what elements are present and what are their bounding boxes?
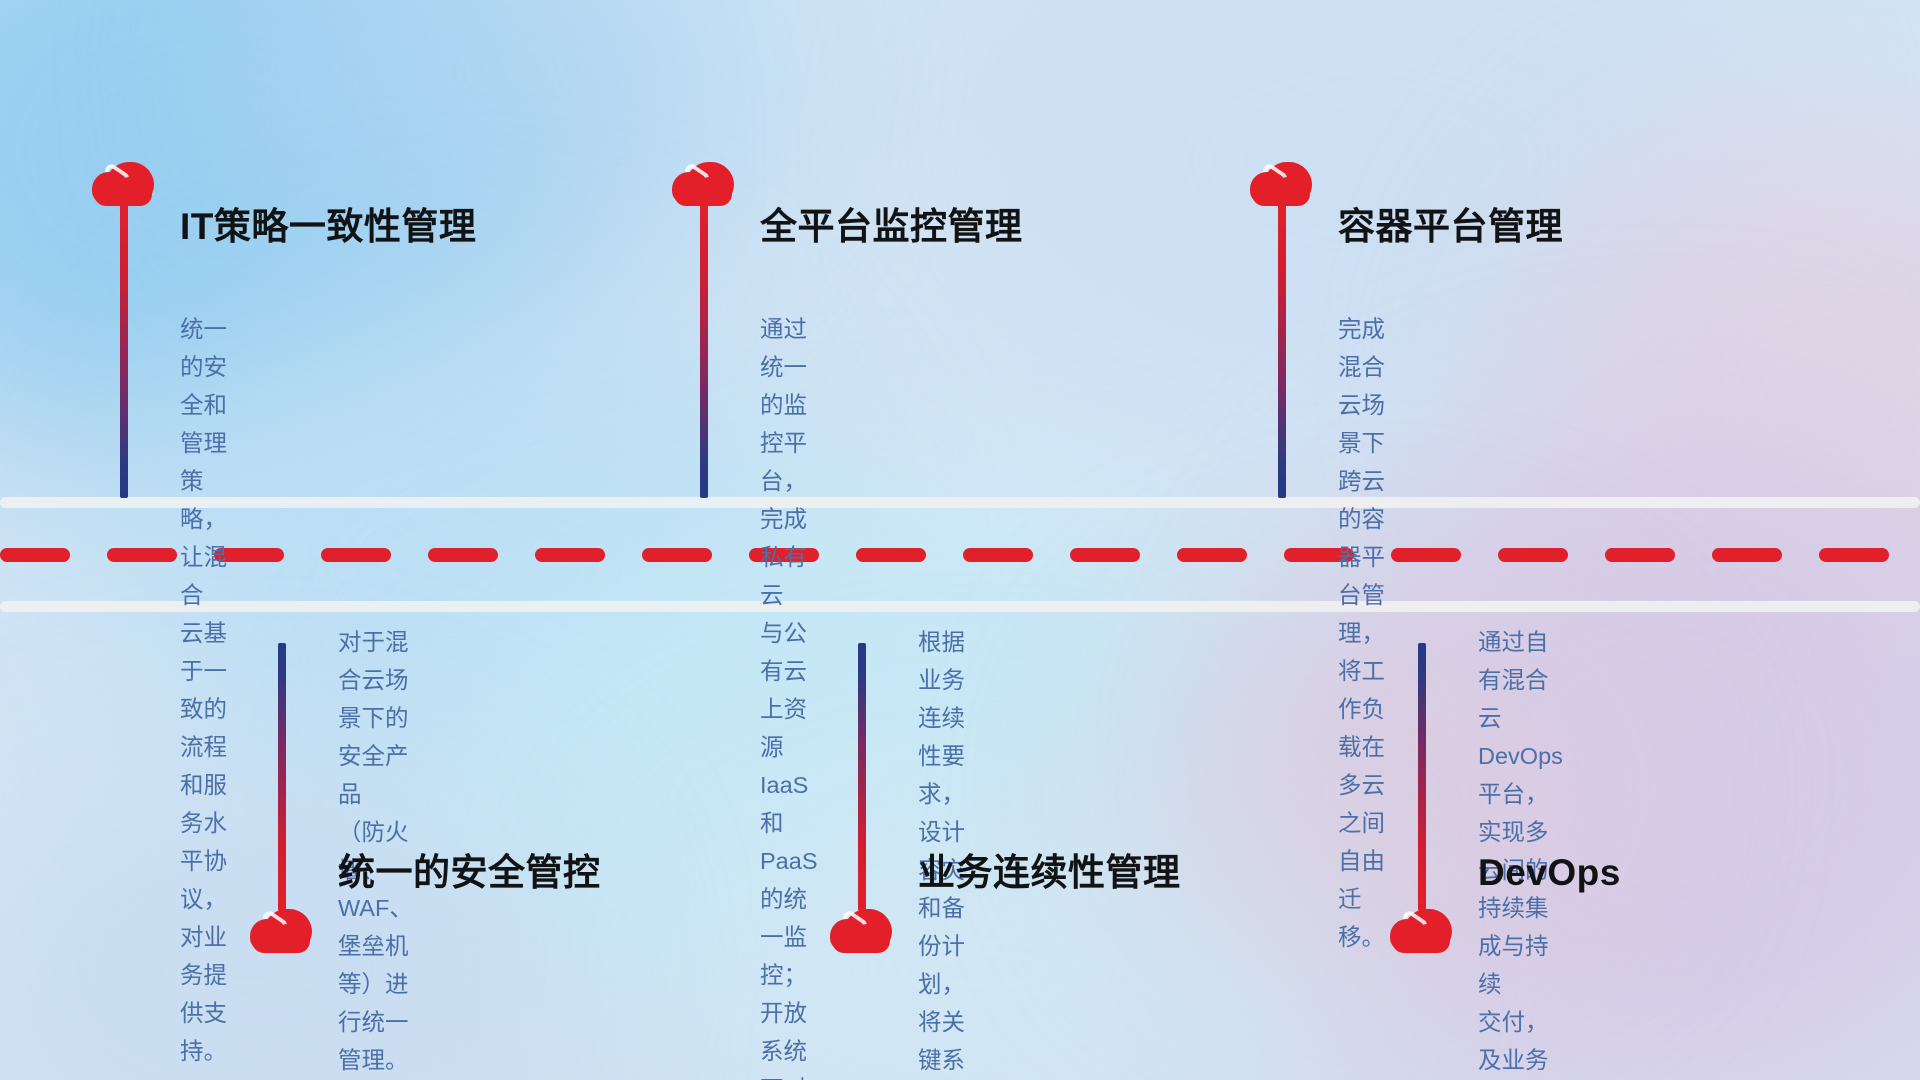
card-title: DevOps [1478,854,1621,891]
road-dash-segment [1605,548,1675,562]
road-dash-segment [1498,548,1568,562]
card-title: 统一的安全管控 [338,854,601,891]
road-dash-segment [535,548,605,562]
card-body-text: 统一的安全和管理策略，让混合 云基于一致的流程和服务水平协 议，对业务提供支持。 [180,310,227,1070]
road-dash-segment [1070,548,1140,562]
infographic-canvas: IT策略一致性管理 统一的安全和管理策略，让混合 云基于一致的流程和服务水平协 … [0,0,1920,1080]
connector-stem [858,643,866,911]
road-dash-segment [107,548,177,562]
connector-stem [278,643,286,911]
road-dash-segment [321,548,391,562]
road-dash-segment [1391,548,1461,562]
card-title: IT策略一致性管理 [180,208,476,245]
card-title: 容器平台管理 [1338,208,1563,245]
cloud-icon [1250,160,1314,206]
road-dash-segment [1177,548,1247,562]
cloud-icon [250,907,314,953]
connector-stem [1418,643,1426,911]
road-center-dashed-line [0,548,1920,562]
road-dash-segment [0,548,70,562]
connector-stem [120,202,128,498]
cloud-icon [92,160,156,206]
road-dash-segment [1712,548,1782,562]
card-body-text: 对于混合云场景下的安全产品 （防火墙、WAF、堡垒机等）进 行统一管理。 [338,623,413,1079]
cloud-icon [1390,907,1454,953]
card-body-text: 通过统一的监控平台，完成私有云 与公有云上资源IaaS和PaaS的统 一监控；开… [760,310,818,1080]
cloud-icon [830,907,894,953]
card-title: 业务连续性管理 [918,854,1181,891]
connector-stem [1278,202,1286,498]
card-body-text: 完成混合云场景下跨云的容器平 台管理，将工作负载在多云之间 自由迁移。 [1338,310,1385,956]
road-dash-segment [642,548,712,562]
road-dash-segment [1819,548,1889,562]
road-edge-line-top [0,497,1920,508]
road-edge-line-bottom [0,601,1920,612]
card-title: 全平台监控管理 [760,208,1023,245]
road-dash-segment [963,548,1033,562]
road-dash-segment [856,548,926,562]
cloud-icon [672,160,736,206]
road-dash-segment [428,548,498,562]
connector-stem [700,202,708,498]
